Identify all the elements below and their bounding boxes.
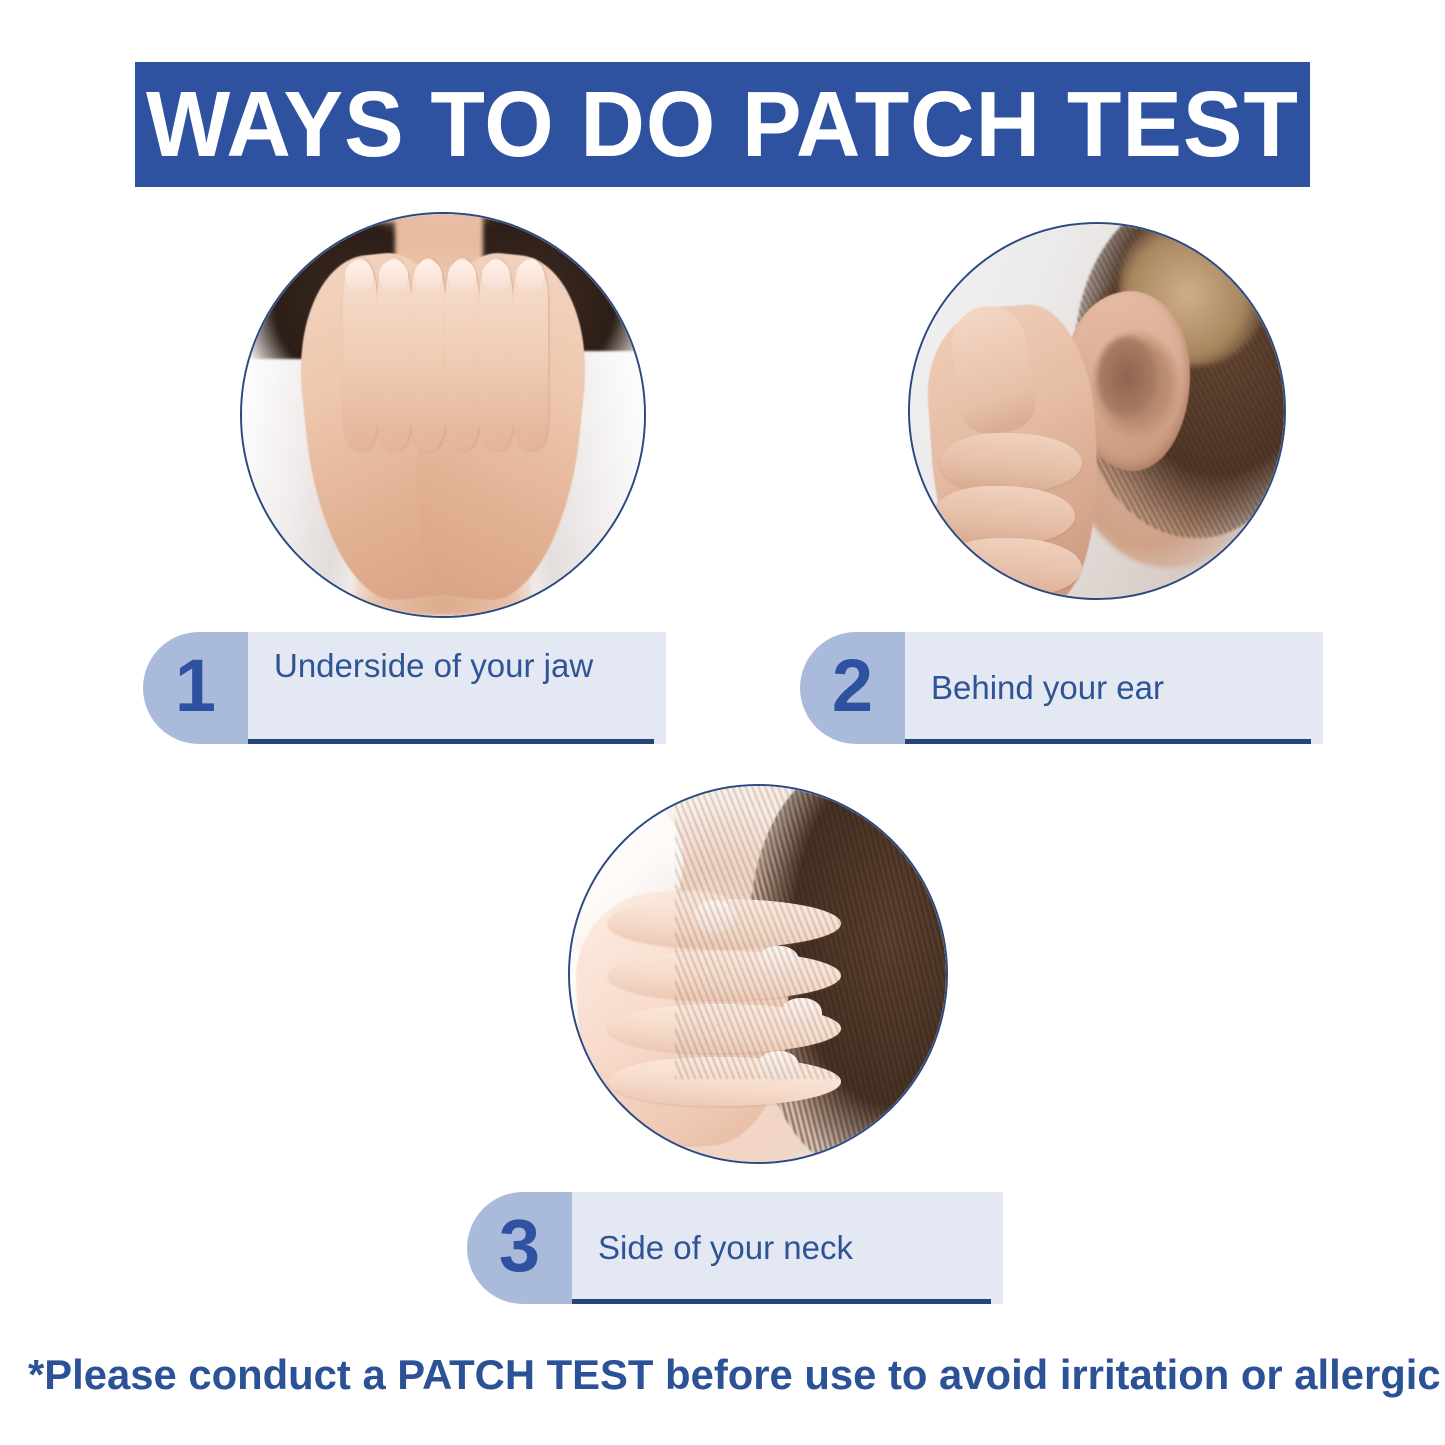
- behind-ear-photo: [908, 222, 1286, 600]
- photo-1-fingernail: [414, 260, 442, 292]
- step-2-label: Behind your ear: [931, 668, 1164, 708]
- header-banner: WAYS TO DO PATCH TEST: [135, 62, 1310, 187]
- step-1-number-badge: 1: [143, 632, 248, 744]
- step-2-underline: [905, 739, 1311, 744]
- step-3-underline: [572, 1299, 991, 1304]
- step-bar-1: 1 Underside of your jaw: [143, 632, 666, 744]
- photo-2-ear-inner: [1097, 336, 1157, 418]
- photo-1-fingernail: [379, 260, 407, 292]
- photo-1-fingernail: [448, 260, 476, 292]
- step-1-label-container: Underside of your jaw: [248, 632, 666, 744]
- patch-test-disclaimer: *Please conduct a PATCH TEST before use …: [28, 1352, 1411, 1398]
- step-3-number-badge: 3: [467, 1192, 572, 1304]
- photo-3-hair-wisps: [675, 786, 878, 1079]
- page-title: WAYS TO DO PATCH TEST: [146, 78, 1299, 171]
- side-of-neck-photo: [568, 784, 948, 1164]
- step-bar-2: 2 Behind your ear: [800, 632, 1323, 744]
- underside-of-jaw-photo: [240, 212, 646, 618]
- photo-2-content: [910, 224, 1284, 598]
- step-1-label: Underside of your jaw: [274, 646, 593, 686]
- step-3-label-container: Side of your neck: [572, 1192, 1003, 1304]
- step-3-number: 3: [499, 1209, 540, 1283]
- photo-2-finger: [940, 433, 1082, 493]
- step-1-number: 1: [175, 649, 216, 723]
- photo-1-content: [242, 214, 644, 616]
- photo-1-fingernail: [516, 260, 544, 292]
- photo-1-fingernail: [345, 260, 373, 292]
- step-1-underline: [248, 739, 654, 744]
- photo-2-finger: [940, 538, 1082, 598]
- photo-3-content: [570, 786, 946, 1162]
- step-bar-3: 3 Side of your neck: [467, 1192, 1003, 1304]
- step-2-label-container: Behind your ear: [905, 632, 1323, 744]
- step-2-number: 2: [832, 649, 873, 723]
- photo-1-fingernail: [482, 260, 510, 292]
- step-2-number-badge: 2: [800, 632, 905, 744]
- step-3-label: Side of your neck: [598, 1228, 853, 1268]
- photo-2-finger: [932, 486, 1074, 546]
